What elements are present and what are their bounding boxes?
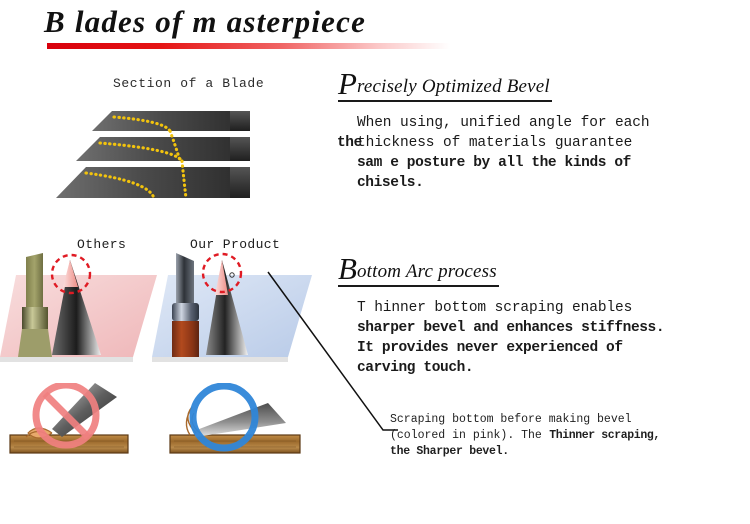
paragraph-line: sharper bevel and enhances stiffness. (357, 318, 729, 338)
paragraph-line: carving touch. (357, 358, 729, 378)
paragraph-line: chisels. (357, 173, 729, 193)
section-1-drop-cap: P (338, 66, 357, 101)
paragraph-line: T hinner bottom scraping enables (357, 298, 729, 318)
comparison-label-others: Others (77, 237, 126, 252)
caption-line-overlay: Thinner scraping, (549, 428, 660, 444)
section-1: Precisely Optimized Bevel When using, un… (338, 68, 750, 193)
paragraph-line: sam e posture by all the kinds of (357, 153, 729, 173)
section-1-heading-text: recisely Optimized Bevel (357, 76, 550, 97)
paragraph-line: thickness of materials guaranteethe (357, 133, 729, 153)
section-1-heading: Precisely Optimized Bevel (338, 68, 552, 102)
section-1-paragraph: When using, unified angle for each thick… (338, 113, 729, 193)
paragraph-line: When using, unified angle for each (357, 113, 729, 133)
caption-line: Scraping bottom before making bevel (390, 412, 740, 428)
caption-line: (colored in pink). TheThinner scraping, (390, 428, 740, 444)
paragraph-line-base: thickness of materials guarantee (357, 135, 632, 151)
slide-canvas: B lades of m asterpiece Section of a Bla… (0, 0, 750, 524)
comparison-label-our-product: Our Product (190, 237, 280, 252)
title-underline-rule (47, 43, 450, 49)
page-title: B lades of m asterpiece (44, 4, 366, 40)
blade-section-caption: Section of a Blade (113, 76, 264, 91)
blade-section-diagram (52, 95, 292, 220)
caption-line: the Sharper bevel. (390, 444, 740, 460)
paragraph-line-overlay: the (337, 133, 362, 153)
pointer-caption: Scraping bottom before making bevel (col… (390, 412, 740, 460)
paragraph-line: It provides never experienced of (357, 338, 729, 358)
leader-line (255, 262, 400, 442)
caption-line-base: (colored in pink). The (390, 429, 542, 442)
